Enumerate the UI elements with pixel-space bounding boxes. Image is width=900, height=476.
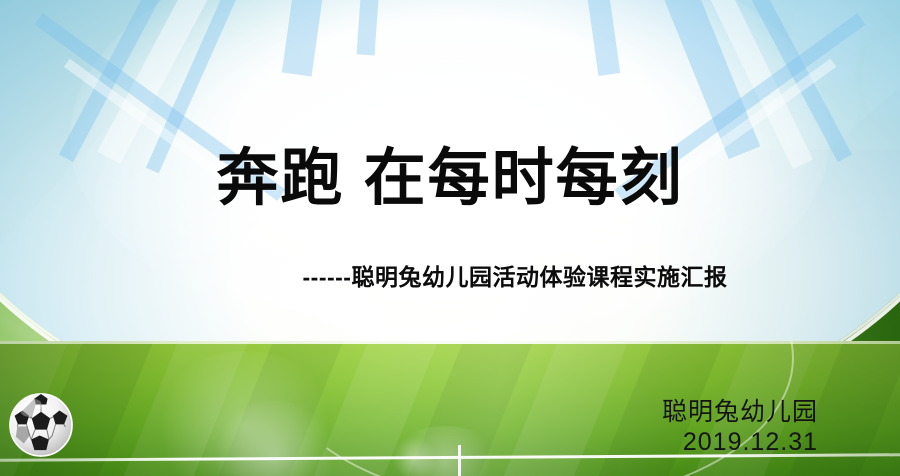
presentation-date: 2019.12.31	[683, 428, 818, 457]
soccer-ball-icon	[8, 392, 74, 458]
presentation-slide: 奔跑 在每时每刻 ------聪明兔幼儿园活动体验课程实施汇报 聪明兔幼儿园 2…	[0, 0, 900, 476]
pitch-halfway-line	[458, 445, 461, 476]
slide-title: 奔跑 在每时每刻	[0, 148, 900, 210]
organization-name: 聪明兔幼儿园	[662, 392, 818, 428]
field-horizon-line	[0, 341, 900, 344]
slide-subtitle: ------聪明兔幼儿园活动体验课程实施汇报	[0, 258, 900, 292]
